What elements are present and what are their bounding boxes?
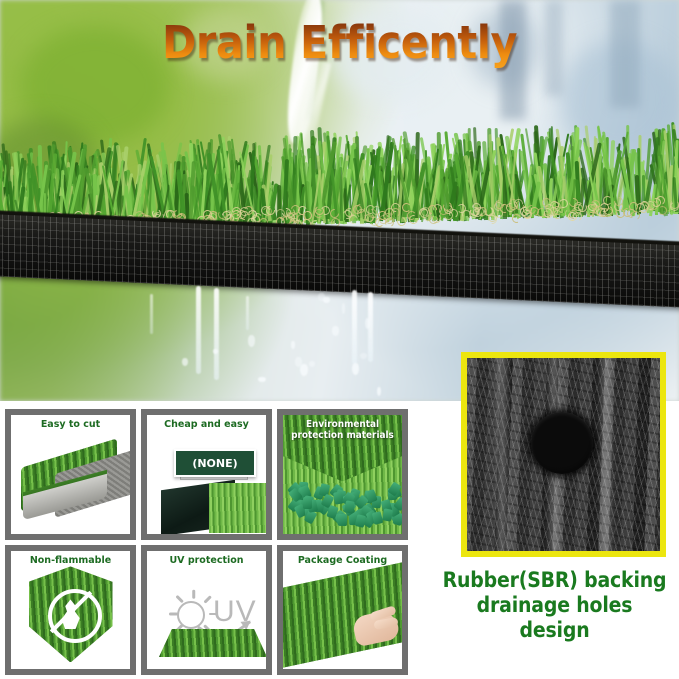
no-entry-icon [48, 589, 102, 643]
feature-label: Non-flammable [14, 555, 127, 566]
sign-text: (NONE) [192, 457, 237, 470]
feature-label: Cheap and easy [150, 419, 263, 430]
turf-slab-side-view [0, 118, 679, 288]
price-sign: (NONE) [174, 449, 256, 477]
feature-panel-cheap-and-easy[interactable]: (NONE) Cheap and easy [141, 409, 272, 540]
panel-artwork [283, 551, 402, 670]
grass-sheet [209, 483, 266, 533]
feature-panel-non-flammable[interactable]: Non-flammable [5, 545, 136, 676]
headline-text: Drain Efficently [27, 16, 652, 69]
feature-panel-easy-to-cut[interactable]: Easy to cut [5, 409, 136, 540]
sun-ray [192, 589, 195, 598]
sun-ray [204, 596, 212, 604]
sun-ray [175, 596, 183, 604]
panel-artwork: UV [147, 551, 266, 670]
turf-mat-icon [159, 629, 266, 657]
drainage-hole [531, 412, 593, 474]
panel-artwork: (NONE) [147, 415, 266, 534]
feature-panel-environmental-materials[interactable]: Environmental protection materials [277, 409, 408, 540]
resin-pellets [289, 482, 402, 528]
feature-panel-package-coating[interactable]: Package Coating [277, 545, 408, 676]
product-feature-image: Drain Efficently Easy to cut (NONE) [0, 0, 679, 679]
feature-label: Easy to cut [14, 419, 127, 430]
panel-artwork [11, 551, 130, 670]
feature-grid: Easy to cut (NONE) Cheap and easy Enviro… [5, 409, 408, 675]
caption-line-1: Rubber(SBR) backing [442, 568, 666, 593]
feature-panel-uv-protection[interactable]: UV UV protection [141, 545, 272, 676]
sun-ray [169, 613, 178, 616]
rubber-backing-photo-frame [461, 352, 666, 557]
caption-line-2: drainage holes design [442, 593, 666, 643]
rubber-backing-photo [467, 358, 660, 551]
feature-label: UV protection [150, 555, 263, 566]
rubber-ridge [598, 358, 614, 551]
rubber-ridge [494, 358, 510, 551]
feature-label: Package Coating [286, 555, 399, 566]
feature-label: Environmental protection materials [286, 419, 399, 441]
panel-artwork [11, 415, 130, 534]
rubber-caption: Rubber(SBR) backing drainage holes desig… [442, 568, 666, 642]
hero-photo: Drain Efficently [0, 0, 679, 401]
